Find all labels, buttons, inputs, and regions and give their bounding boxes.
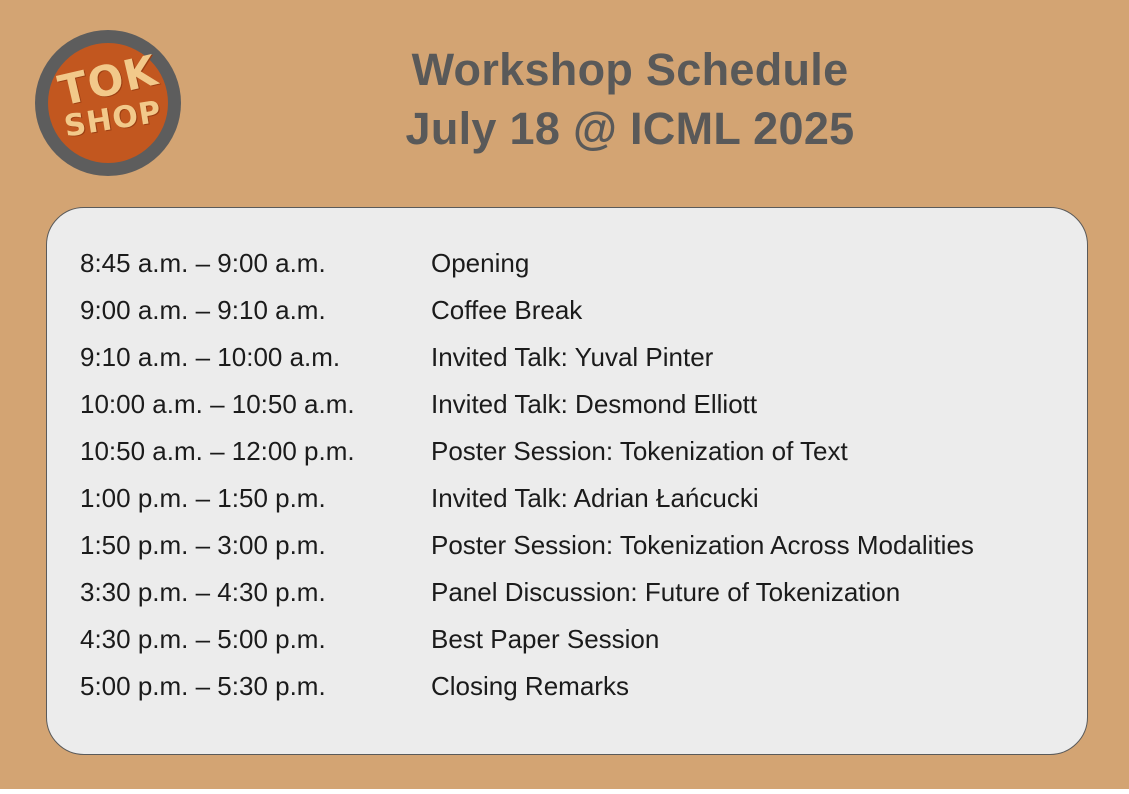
table-row: 8:45 a.m. – 9:00 a.m. Opening — [80, 248, 1067, 295]
title-line-2: July 18 @ ICML 2025 — [190, 99, 1070, 158]
row-time: 10:50 a.m. – 12:00 p.m. — [80, 436, 431, 467]
row-event: Poster Session: Tokenization of Text — [431, 436, 848, 467]
row-time: 8:45 a.m. – 9:00 a.m. — [80, 248, 431, 279]
row-time: 3:30 p.m. – 4:30 p.m. — [80, 577, 431, 608]
row-event: Opening — [431, 248, 529, 279]
row-event: Best Paper Session — [431, 624, 659, 655]
row-time: 9:10 a.m. – 10:00 a.m. — [80, 342, 431, 373]
table-row: 1:00 p.m. – 1:50 p.m. Invited Talk: Adri… — [80, 483, 1067, 530]
row-time: 1:00 p.m. – 1:50 p.m. — [80, 483, 431, 514]
schedule-table: 8:45 a.m. – 9:00 a.m. Opening 9:00 a.m. … — [80, 248, 1067, 718]
table-row: 5:00 p.m. – 5:30 p.m. Closing Remarks — [80, 671, 1067, 718]
row-time: 5:00 p.m. – 5:30 p.m. — [80, 671, 431, 702]
page-title: Workshop Schedule July 18 @ ICML 2025 — [190, 40, 1070, 158]
table-row: 1:50 p.m. – 3:00 p.m. Poster Session: To… — [80, 530, 1067, 577]
row-time: 10:00 a.m. – 10:50 a.m. — [80, 389, 431, 420]
bottom-edge-strip — [0, 789, 1129, 794]
row-event: Invited Talk: Yuval Pinter — [431, 342, 713, 373]
table-row: 9:10 a.m. – 10:00 a.m. Invited Talk: Yuv… — [80, 342, 1067, 389]
tokshop-logo: TOK SHOP — [35, 30, 181, 176]
row-time: 9:00 a.m. – 9:10 a.m. — [80, 295, 431, 326]
row-event: Coffee Break — [431, 295, 582, 326]
row-event: Poster Session: Tokenization Across Moda… — [431, 530, 974, 561]
table-row: 3:30 p.m. – 4:30 p.m. Panel Discussion: … — [80, 577, 1067, 624]
table-row: 10:00 a.m. – 10:50 a.m. Invited Talk: De… — [80, 389, 1067, 436]
table-row: 10:50 a.m. – 12:00 p.m. Poster Session: … — [80, 436, 1067, 483]
slide-canvas: TOK SHOP Workshop Schedule July 18 @ ICM… — [0, 0, 1129, 789]
row-event: Panel Discussion: Future of Tokenization — [431, 577, 900, 608]
table-row: 9:00 a.m. – 9:10 a.m. Coffee Break — [80, 295, 1067, 342]
row-event: Closing Remarks — [431, 671, 629, 702]
row-event: Invited Talk: Desmond Elliott — [431, 389, 757, 420]
title-line-1: Workshop Schedule — [190, 40, 1070, 99]
row-time: 1:50 p.m. – 3:00 p.m. — [80, 530, 431, 561]
row-event: Invited Talk: Adrian Łańcucki — [431, 483, 759, 514]
row-time: 4:30 p.m. – 5:00 p.m. — [80, 624, 431, 655]
schedule-card: 8:45 a.m. – 9:00 a.m. Opening 9:00 a.m. … — [46, 207, 1088, 755]
table-row: 4:30 p.m. – 5:00 p.m. Best Paper Session — [80, 624, 1067, 671]
